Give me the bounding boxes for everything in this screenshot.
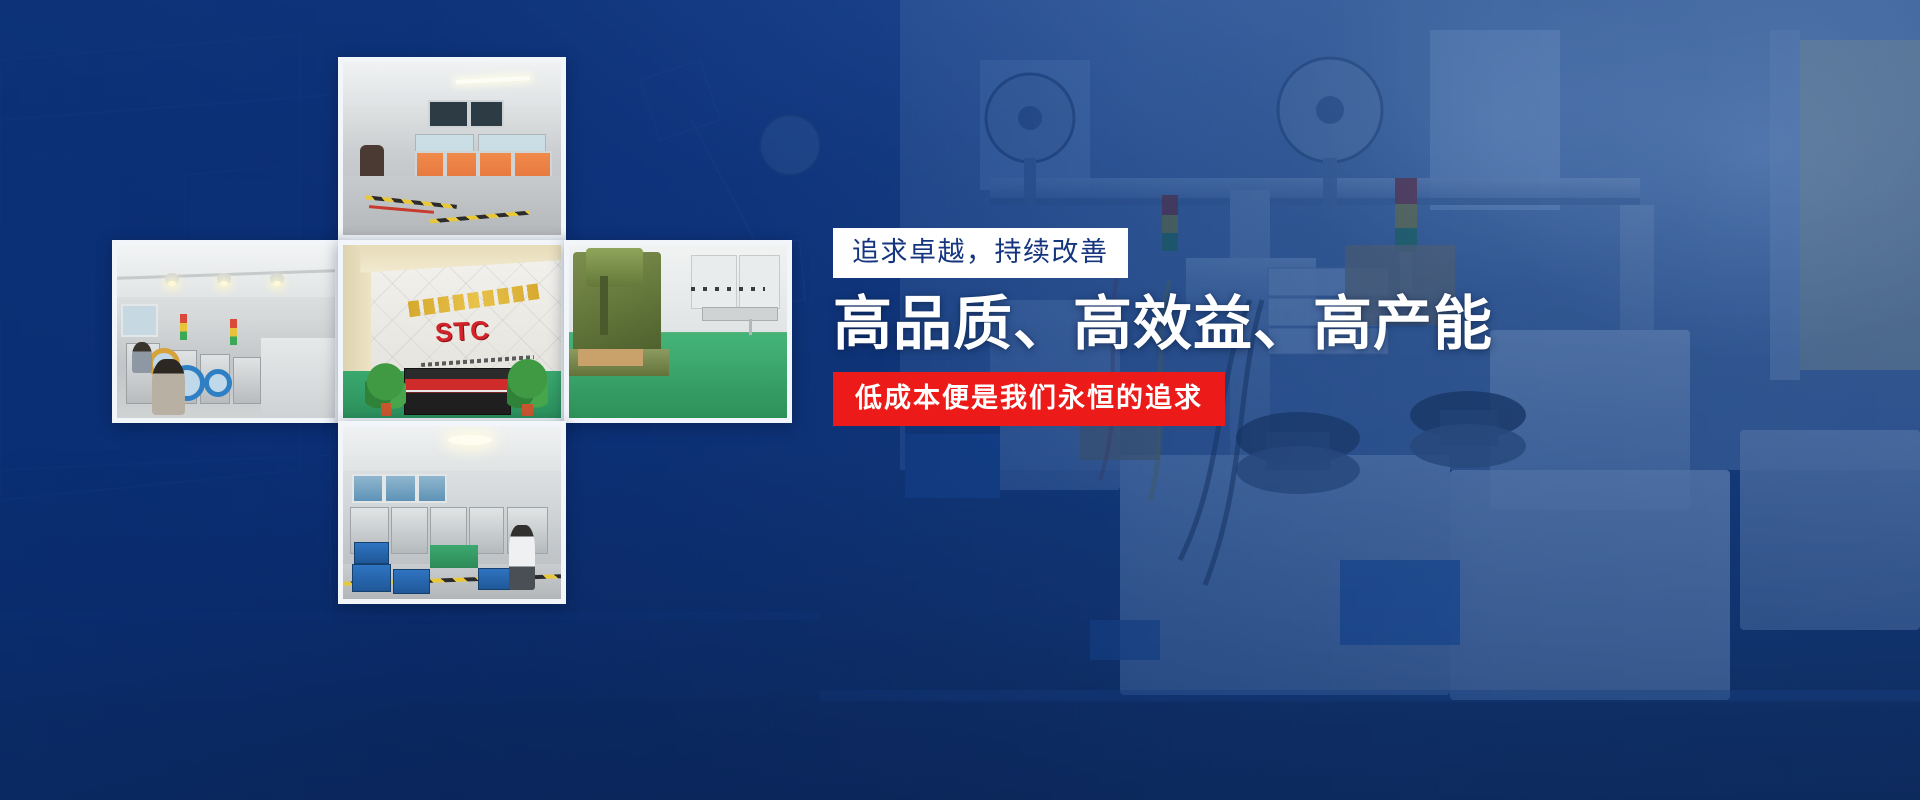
- collage-photo-bottom[interactable]: [338, 421, 566, 604]
- tagline-badge: 追求卓越，持续改善: [833, 228, 1128, 278]
- headline: 高品质、高效益、高产能: [833, 290, 1473, 358]
- hero-banner: STC: [0, 0, 1920, 800]
- photo-production-line: [117, 245, 335, 418]
- photo-assembly-hall: [343, 426, 561, 599]
- photo-stc-reception: STC: [343, 245, 561, 418]
- collage-photo-left[interactable]: [112, 240, 340, 423]
- stc-logo: STC: [434, 315, 491, 349]
- collage-photo-right[interactable]: [564, 240, 792, 423]
- sub-banner-badge: 低成本便是我们永恒的追求: [833, 372, 1225, 426]
- collage-photo-center[interactable]: STC: [338, 240, 566, 423]
- hero-text-block: 追求卓越，持续改善 高品质、高效益、高产能 低成本便是我们永恒的追求: [833, 228, 1473, 426]
- collage-photo-top[interactable]: [338, 57, 566, 240]
- photo-machinery-green-floor: [569, 245, 787, 418]
- photo-office-workshop: [343, 62, 561, 235]
- photo-collage: STC: [112, 57, 792, 597]
